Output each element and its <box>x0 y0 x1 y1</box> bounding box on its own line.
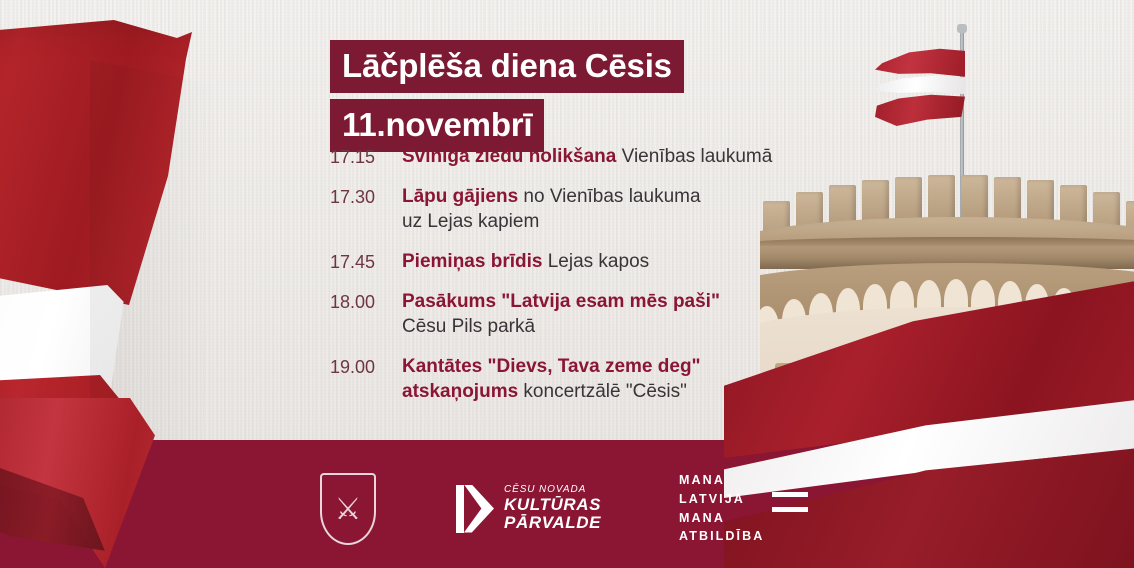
ml-line-3: MANA <box>679 509 764 528</box>
schedule-row-line1: Svinīgā ziedu nolikšana Vienības laukumā <box>402 144 772 170</box>
mana-latvija-logo: MANA LATVIJA MANA ATBILDĪBA <box>679 471 808 546</box>
flag-bar-red-bottom <box>772 507 808 512</box>
mana-latvija-flag-icon <box>772 492 808 512</box>
schedule-row-venue-cont: koncertzālē "Cēsis" <box>518 381 687 402</box>
schedule-row-time: 17.15 <box>330 144 402 169</box>
schedule-row: 19.00Kantātes "Dievs, Tava zeme deg"atsk… <box>330 354 810 405</box>
schedule-row-title: Lāpu gājiens <box>402 186 518 207</box>
poster-canvas: ✳ ✳ ✳ <box>0 0 1134 568</box>
crenel-block <box>961 175 988 220</box>
flag-bar-red-top <box>772 492 808 497</box>
left-flag-lower-corner <box>0 398 210 568</box>
schedule-row-line2: uz Lejas kapiem <box>402 209 701 235</box>
kulturas-parvalde-logo: CĒSU NOVADA KULTŪRAS PĀRVALDE <box>454 481 601 537</box>
logo-bar-shape <box>456 485 464 533</box>
schedule-row-line1: Pasākums "Latvija esam mēs paši" <box>402 289 720 315</box>
schedule-row-text: Pasākums "Latvija esam mēs paši"Cēsu Pil… <box>402 289 720 340</box>
schedule-row-line1: Piemiņas brīdis Lejas kapos <box>402 249 649 275</box>
schedule-row-text: Svinīgā ziedu nolikšana Vienības laukumā <box>402 144 772 170</box>
ml-line-1: MANA <box>679 471 764 490</box>
footer-logos: ⚔ CĒSU NOVADA KULTŪRAS PĀRVALDE MANA LAT… <box>320 471 808 546</box>
kulturas-parvalde-mark-icon <box>454 481 494 537</box>
crenel-block <box>895 177 922 221</box>
kp-line-small: CĒSU NOVADA <box>504 485 601 496</box>
knight-figure-icon: ⚔ <box>335 495 362 525</box>
ml-line-4: ATBILDĪBA <box>679 527 764 546</box>
schedule-row-time: 17.45 <box>330 249 402 274</box>
flag-stripe-red-bottom <box>875 92 965 138</box>
schedule-row-venue-cont: uz Lejas kapiem <box>402 211 539 232</box>
schedule-row-venue: Vienības laukumā <box>616 146 772 167</box>
schedule-row: 18.00Pasākums "Latvija esam mēs paši"Cēs… <box>330 289 810 340</box>
schedule-row-title: Kantātes "Dievs, Tava zeme deg" <box>402 356 701 377</box>
schedule-row-venue: Lejas kapos <box>542 251 649 272</box>
schedule-row-line2: atskaņojums koncertzālē "Cēsis" <box>402 379 701 405</box>
schedule-row-line2: Cēsu Pils parkā <box>402 314 720 340</box>
schedule-row-text: Kantātes "Dievs, Tava zeme deg"atskaņoju… <box>402 354 701 405</box>
crenel-block <box>862 180 889 223</box>
tower-latvian-flag <box>875 48 965 138</box>
schedule-row-title: Pasākums "Latvija esam mēs paši" <box>402 291 720 312</box>
flag-bar-white <box>772 500 808 504</box>
schedule-row-title: Piemiņas brīdis <box>402 251 542 272</box>
poster-headline: Lāčplēša diena Cēsis 11.novembrī <box>330 40 684 152</box>
flagpole-cap <box>957 24 967 33</box>
crenel-block <box>994 177 1021 221</box>
mana-latvija-wordmark: MANA LATVIJA MANA ATBILDĪBA <box>679 471 764 546</box>
schedule-row-line1: Lāpu gājiens no Vienības laukuma <box>402 184 701 210</box>
schedule-row-time: 19.00 <box>330 354 402 379</box>
tower-parapet-moulding <box>760 237 1134 246</box>
crenel-block <box>1027 180 1054 223</box>
schedule-row: 17.45Piemiņas brīdis Lejas kapos <box>330 249 810 275</box>
event-schedule-list: 17.15Svinīgā ziedu nolikšana Vienības la… <box>330 144 810 419</box>
schedule-row-time: 18.00 <box>330 289 402 314</box>
logo-arrow-shape <box>464 485 494 533</box>
schedule-row-title-cont: atskaņojums <box>402 381 518 402</box>
crenel-block <box>928 175 955 220</box>
schedule-row-venue-cont: Cēsu Pils parkā <box>402 316 535 337</box>
schedule-row-text: Piemiņas brīdis Lejas kapos <box>402 249 649 275</box>
schedule-row-time: 17.30 <box>330 184 402 209</box>
headline-line-1: Lāčplēša diena Cēsis <box>330 40 684 93</box>
cesis-coat-of-arms-logo: ⚔ <box>320 473 376 545</box>
ml-line-2: LATVIJA <box>679 490 764 509</box>
schedule-row-line1: Kantātes "Dievs, Tava zeme deg" <box>402 354 701 380</box>
schedule-row: 17.30Lāpu gājiens no Vienības laukumauz … <box>330 184 810 235</box>
schedule-row-text: Lāpu gājiens no Vienības laukumauz Lejas… <box>402 184 701 235</box>
kp-line-2: PĀRVALDE <box>504 514 601 532</box>
kulturas-parvalde-wordmark: CĒSU NOVADA KULTŪRAS PĀRVALDE <box>504 485 601 533</box>
schedule-row-title: Svinīgā ziedu nolikšana <box>402 146 616 167</box>
kp-line-1: KULTŪRAS <box>504 496 601 514</box>
schedule-row-venue: no Vienības laukuma <box>518 186 700 207</box>
schedule-row: 17.15Svinīgā ziedu nolikšana Vienības la… <box>330 144 810 170</box>
